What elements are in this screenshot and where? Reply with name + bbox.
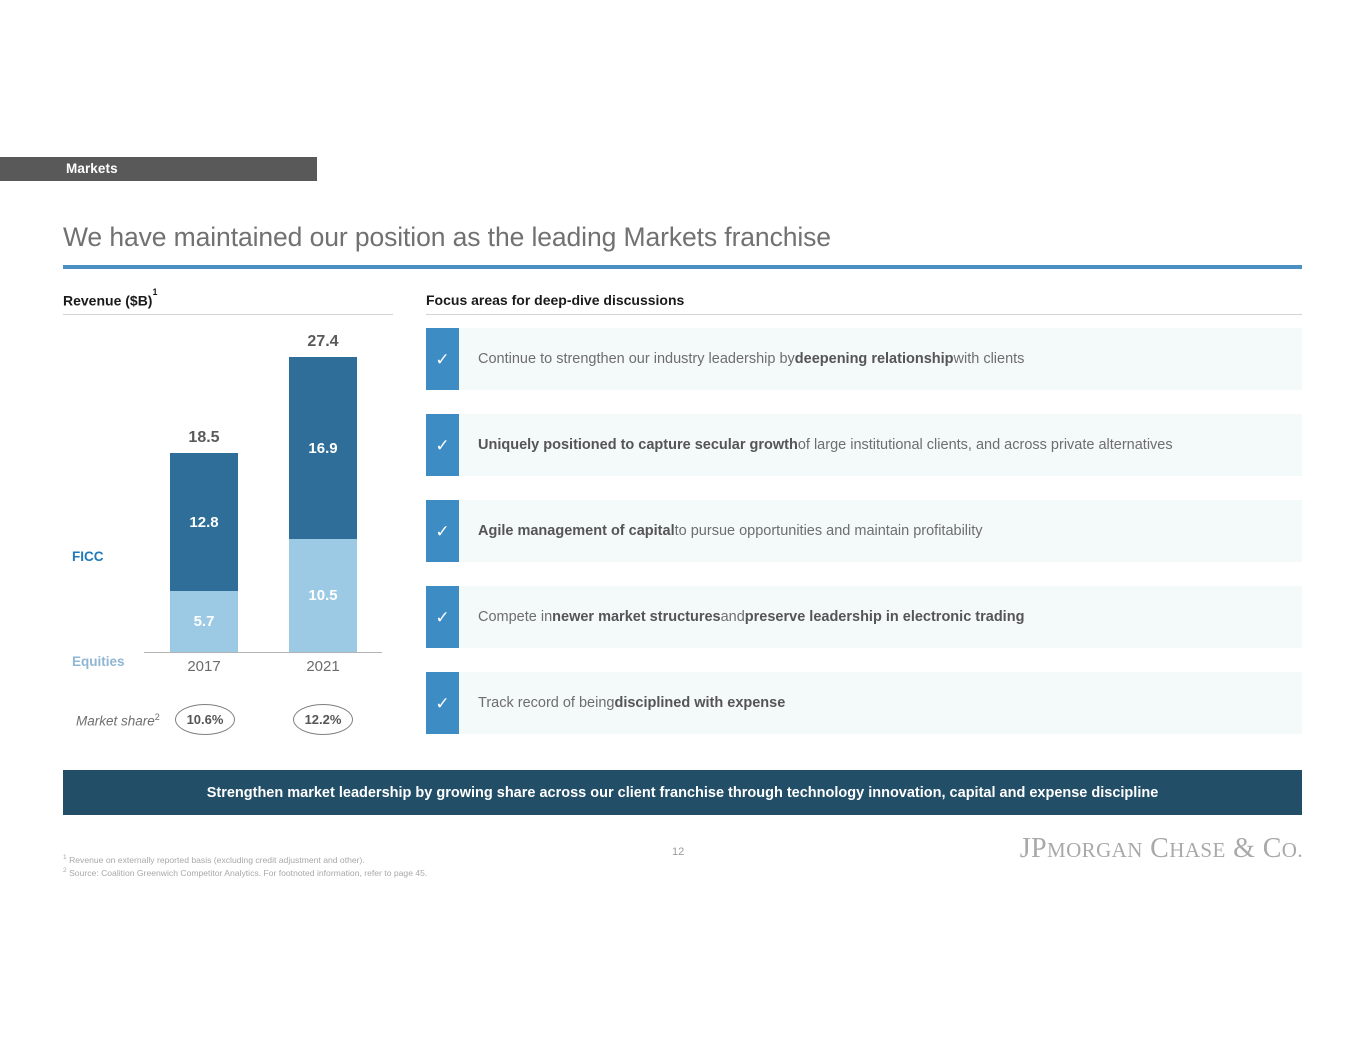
footnote-1-text: Revenue on externally reported basis (ex…: [69, 855, 365, 865]
focus-area-row-3[interactable]: ✓ Agile management of capital to pursue …: [426, 500, 1302, 562]
focus-areas-list: ✓ Continue to strengthen our industry le…: [426, 328, 1302, 758]
bar-group-2021: 27.4 16.9 10.5: [289, 357, 357, 652]
focus-area-row-1[interactable]: ✓ Continue to strengthen our industry le…: [426, 328, 1302, 390]
page-number: 12: [672, 846, 684, 858]
revenue-chart-panel: Revenue ($B)1 FICC Equities 18.5 12.8 5.…: [63, 292, 393, 752]
market-share-badge-2017: 10.6%: [175, 704, 235, 735]
focus-area-row-4[interactable]: ✓ Compete in newer market structures and…: [426, 586, 1302, 648]
title-divider: [63, 265, 1302, 269]
market-share-caption-text: Market share: [76, 714, 155, 729]
focus-areas-divider: [426, 314, 1302, 315]
focus-area-row-2[interactable]: ✓ Uniquely positioned to capture secular…: [426, 414, 1302, 476]
summary-banner: Strengthen market leadership by growing …: [63, 770, 1302, 815]
check-icon: ✓: [426, 328, 459, 390]
focus-area-text-1: Continue to strengthen our industry lead…: [459, 328, 1302, 390]
chart-baseline-axis: [144, 652, 382, 653]
bar-segment-ficc-2021: 16.9: [289, 357, 357, 539]
series-label-ficc: FICC: [72, 549, 104, 564]
footnote-1: 1 Revenue on externally reported basis (…: [63, 853, 427, 866]
footnote-1-marker: 1: [63, 854, 67, 861]
revenue-chart-heading-text: Revenue ($B): [63, 293, 152, 309]
focus-area-text-4: Compete in newer market structures and p…: [459, 586, 1302, 648]
market-share-row: Market share2 10.6% 12.2%: [63, 704, 393, 738]
revenue-chart-divider: [63, 314, 393, 315]
footnote-2-marker: 2: [63, 867, 67, 874]
summary-banner-text: Strengthen market leadership by growing …: [207, 785, 1159, 801]
x-axis-label-2017: 2017: [170, 658, 238, 675]
focus-area-row-5[interactable]: ✓ Track record of being disciplined with…: [426, 672, 1302, 734]
bar-group-2017: 18.5 12.8 5.7: [170, 453, 238, 652]
market-share-caption: Market share2: [76, 712, 160, 729]
market-share-badge-2021: 12.2%: [293, 704, 353, 735]
market-share-caption-footnote: 2: [155, 712, 160, 722]
revenue-chart-heading-footnote: 1: [152, 287, 157, 297]
revenue-chart-heading: Revenue ($B)1: [63, 292, 157, 309]
series-label-equities: Equities: [72, 654, 125, 669]
section-tab: Markets: [0, 157, 317, 181]
bar-total-2017: 18.5: [170, 429, 238, 447]
slide: Markets We have maintained our position …: [0, 0, 1365, 1055]
focus-area-text-3: Agile management of capital to pursue op…: [459, 500, 1302, 562]
check-icon: ✓: [426, 672, 459, 734]
bar-segment-equities-2017-value: 5.7: [194, 613, 215, 630]
check-icon: ✓: [426, 414, 459, 476]
footnotes: 1 Revenue on externally reported basis (…: [63, 853, 427, 880]
focus-area-text-2: Uniquely positioned to capture secular g…: [459, 414, 1302, 476]
check-icon: ✓: [426, 500, 459, 562]
bar-segment-equities-2021: 10.5: [289, 539, 357, 652]
bar-segment-ficc-2021-value: 16.9: [308, 440, 337, 457]
bar-segment-equities-2017: 5.7: [170, 591, 238, 652]
x-axis-label-2021: 2021: [289, 658, 357, 675]
jpmorgan-logo: JPMORGAN CHASE & CO.: [1020, 833, 1303, 865]
bar-total-2021: 27.4: [289, 333, 357, 351]
footnote-2: 2 Source: Coalition Greenwich Competitor…: [63, 866, 427, 879]
page-title: We have maintained our position as the l…: [63, 222, 831, 253]
bar-segment-ficc-2017: 12.8: [170, 453, 238, 591]
bar-segment-ficc-2017-value: 12.8: [189, 514, 218, 531]
check-icon: ✓: [426, 586, 459, 648]
section-tab-label: Markets: [66, 161, 118, 176]
bar-segment-equities-2021-value: 10.5: [308, 587, 337, 604]
footnote-2-text: Source: Coalition Greenwich Competitor A…: [69, 868, 427, 878]
focus-areas-heading: Focus areas for deep-dive discussions: [426, 292, 684, 308]
focus-area-text-5: Track record of being disciplined with e…: [459, 672, 1302, 734]
stacked-bar-chart: FICC Equities 18.5 12.8 5.7 27.4 16.9 10…: [63, 328, 393, 673]
